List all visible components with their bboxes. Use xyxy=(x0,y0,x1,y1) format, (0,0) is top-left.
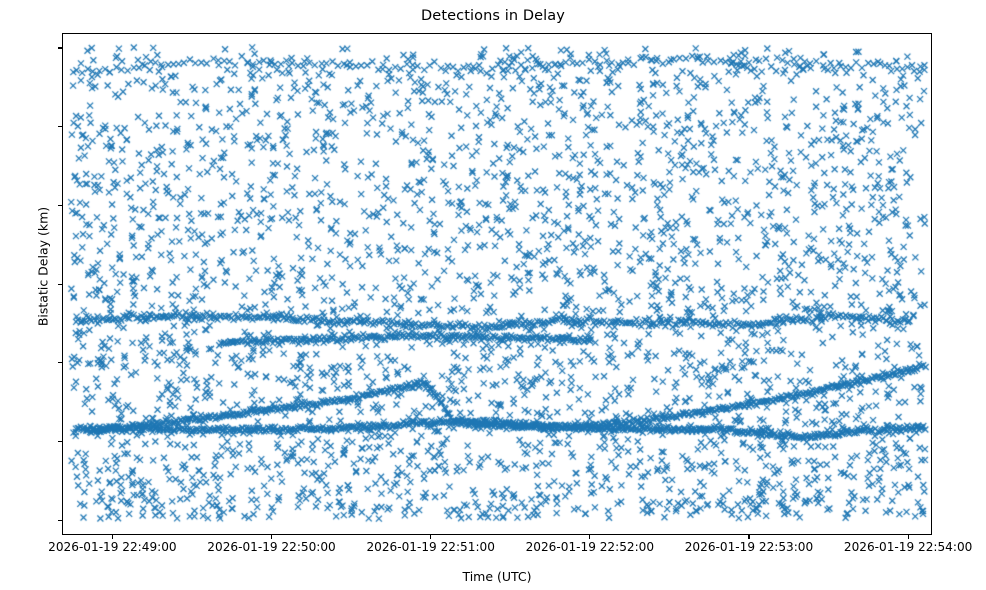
y-axis-label: Bistatic Delay (km) xyxy=(36,16,51,518)
x-tick-mark xyxy=(430,535,431,539)
y-tick-mark xyxy=(58,205,62,206)
x-tick-label: 2026-01-19 22:50:00 xyxy=(207,540,335,554)
x-tick-label: 2026-01-19 22:51:00 xyxy=(366,540,494,554)
x-tick-mark xyxy=(748,535,749,539)
matplotlib-figure: Detections in Delay Bistatic Delay (km) … xyxy=(0,0,986,590)
x-tick-mark xyxy=(589,535,590,539)
y-tick-mark xyxy=(58,126,62,127)
plot-area xyxy=(62,33,932,535)
x-tick-label: 2026-01-19 22:49:00 xyxy=(48,540,176,554)
x-tick-mark xyxy=(271,535,272,539)
x-axis-label: Time (UTC) xyxy=(62,569,932,584)
page-title: Detections in Delay xyxy=(0,8,986,24)
x-tick-mark xyxy=(112,535,113,539)
x-tick-label: 2026-01-19 22:53:00 xyxy=(685,540,813,554)
x-tick-label: 2026-01-19 22:54:00 xyxy=(844,540,972,554)
scatter-plot-canvas xyxy=(63,34,932,535)
y-tick-mark xyxy=(58,441,62,442)
y-tick-mark xyxy=(58,362,62,363)
x-tick-mark xyxy=(908,535,909,539)
x-tick-label: 2026-01-19 22:52:00 xyxy=(526,540,654,554)
y-tick-mark xyxy=(58,520,62,521)
y-tick-mark xyxy=(58,47,62,48)
y-tick-mark xyxy=(58,284,62,285)
